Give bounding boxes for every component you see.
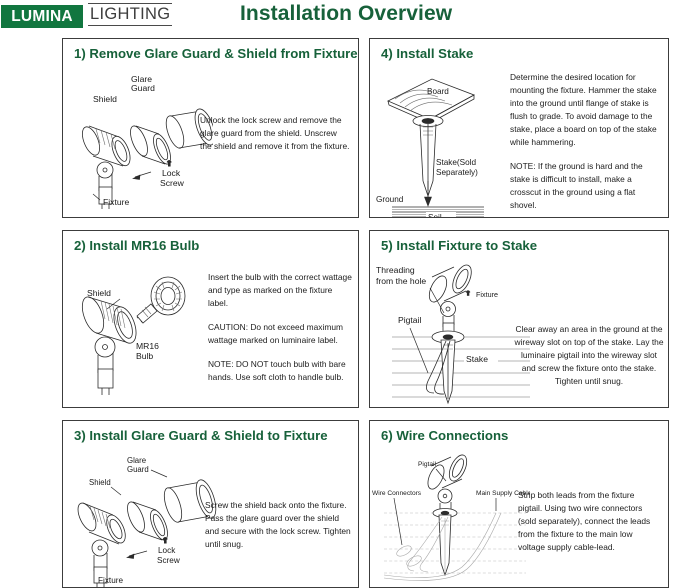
step-panel-3-text: Screw the shield back onto the fixture. … <box>205 499 351 551</box>
svg-text:Pigtail: Pigtail <box>398 315 421 325</box>
svg-text:Glare: Glare <box>127 456 146 465</box>
svg-text:Pigtail: Pigtail <box>418 461 436 468</box>
brand-logo-primary-text: LUMINA <box>11 8 72 26</box>
step-panel-3: 3) Install Glare Guard & Shield to Fixtu… <box>62 420 359 588</box>
svg-text:Lock: Lock <box>162 168 181 178</box>
svg-text:Lock: Lock <box>158 546 176 555</box>
svg-text:MR16: MR16 <box>136 341 159 351</box>
step-panel-1: 1) Remove Glare Guard & Shield from Fixt… <box>62 38 359 218</box>
step-panel-5-text: Clear away an area in the ground at the … <box>513 323 665 388</box>
page-title: Installation Overview <box>240 2 452 26</box>
brand-logo-secondary-wrap: LIGHTING <box>88 3 172 26</box>
step-panel-2: 2) Install MR16 Bulb <box>62 230 359 408</box>
svg-text:Fixture: Fixture <box>98 576 123 585</box>
diagram-wire-connections: Pigtail Wire Connectors Main Supply Cabl… <box>370 451 530 588</box>
instruction-grid: 1) Remove Glare Guard & Shield from Fixt… <box>62 38 669 588</box>
svg-text:from the hole: from the hole <box>376 276 426 286</box>
brand-logo-mark: LUMINA <box>1 5 83 28</box>
step-panel-2-body: Shield MR16 Bulb Insert the bulb with th… <box>63 261 358 407</box>
diagram-install-mr16-bulb: Shield MR16 Bulb <box>63 261 213 408</box>
step-panel-1-body: Glare Guard Shield Lock Screw Fixture Un… <box>63 69 358 217</box>
svg-text:Guard: Guard <box>127 465 149 474</box>
step-panel-5-title: 5) Install Fixture to Stake <box>381 238 537 253</box>
step-panel-5-body: Threading from the hole Fixture Pigtail … <box>370 261 668 407</box>
diagram-remove-glare-guard: Glare Guard Shield Lock Screw Fixture <box>63 69 213 218</box>
svg-text:Bulb: Bulb <box>136 351 153 361</box>
step-panel-4-text: Determine the desired location for mount… <box>510 71 660 212</box>
svg-text:Shield: Shield <box>87 288 111 298</box>
step-panel-4-body: Board <box>370 69 668 217</box>
step-panel-4-title: 4) Install Stake <box>381 46 473 61</box>
step-panel-6: 6) Wire Connections <box>369 420 669 588</box>
step-panel-2-title: 2) Install MR16 Bulb <box>74 238 199 253</box>
svg-text:Stake(Sold: Stake(Sold <box>436 158 476 167</box>
page-header: LUMINA LIGHTING Installation Overview <box>0 0 679 36</box>
step-panel-5: 5) Install Fixture to Stake <box>369 230 669 408</box>
step-panel-1-text: Unlock the lock screw and remove the gla… <box>200 114 350 153</box>
svg-text:Wire Connectors: Wire Connectors <box>372 490 422 497</box>
svg-text:Separately): Separately) <box>436 168 478 177</box>
svg-text:Stake: Stake <box>466 354 488 364</box>
svg-text:Fixture: Fixture <box>103 197 129 207</box>
svg-text:Threading: Threading <box>376 265 415 275</box>
svg-text:Shield: Shield <box>89 478 111 487</box>
step-panel-6-body: Pigtail Wire Connectors Main Supply Cabl… <box>370 451 668 587</box>
step-panel-3-body: Glare Guard Shield Lock Screw Fixture Sc… <box>63 451 358 587</box>
svg-text:Screw: Screw <box>157 556 180 565</box>
svg-text:Screw: Screw <box>160 178 185 188</box>
svg-text:Guard: Guard <box>131 83 155 93</box>
step-panel-1-title: 1) Remove Glare Guard & Shield from Fixt… <box>74 46 358 61</box>
step-panel-6-text: Strip both leads from the fixture pigtai… <box>518 489 660 554</box>
svg-text:Ground: Ground <box>376 195 404 204</box>
svg-text:Fixture: Fixture <box>476 290 498 299</box>
diagram-install-stake: Board <box>370 69 520 218</box>
step-panel-4: 4) Install Stake Board <box>369 38 669 218</box>
step-panel-3-title: 3) Install Glare Guard & Shield to Fixtu… <box>74 428 328 443</box>
step-panel-2-text: Insert the bulb with the correct wattage… <box>208 271 353 384</box>
svg-text:Soil: Soil <box>428 213 442 218</box>
svg-text:Board: Board <box>427 87 449 96</box>
diagram-install-glare-guard: Glare Guard Shield Lock Screw Fixture <box>63 451 218 588</box>
step-panel-6-title: 6) Wire Connections <box>381 428 508 443</box>
svg-text:Shield: Shield <box>93 94 117 104</box>
brand-logo-secondary-text: LIGHTING <box>90 5 170 23</box>
